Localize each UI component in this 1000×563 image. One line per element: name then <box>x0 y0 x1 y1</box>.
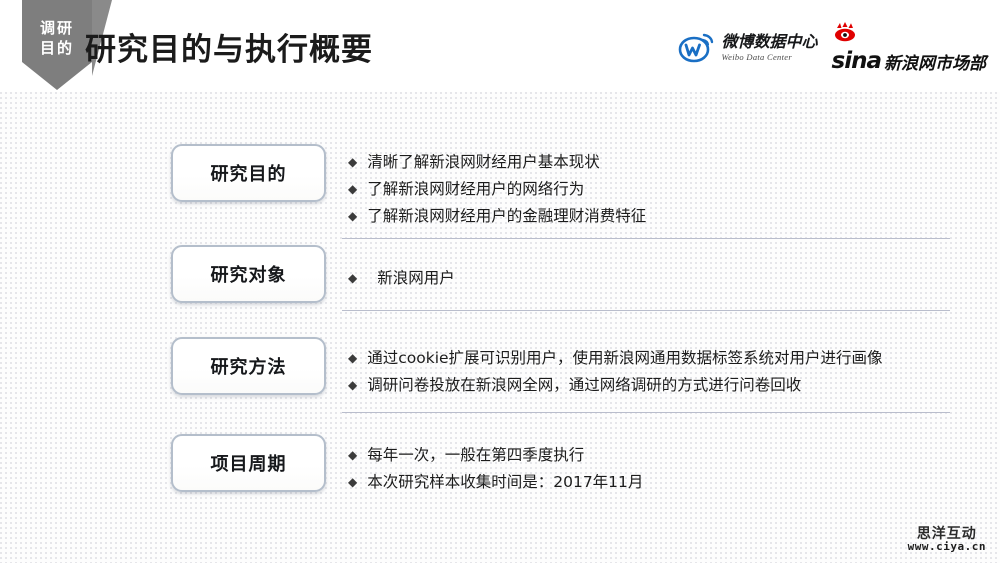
row-label: 研究目的 <box>211 160 287 186</box>
list-item: ◆ 清晰了解新浪网财经用户基本现状 <box>348 151 646 173</box>
diamond-bullet-icon: ◆ <box>348 205 357 227</box>
row-divider <box>342 412 950 413</box>
weibo-logo-cn: 微博数据中心 <box>722 34 818 50</box>
row-divider <box>342 238 950 239</box>
row-label-box: 研究对象 <box>171 245 326 303</box>
section-tab-line2: 目的 <box>40 38 74 58</box>
list-item-text: 每年一次，一般在第四季度执行 <box>367 444 584 466</box>
sina-logo-word: sina <box>832 48 881 74</box>
sina-eye-icon <box>832 22 858 42</box>
watermark-brand: 思洋互动 <box>908 527 986 542</box>
row-label: 研究方法 <box>211 353 287 379</box>
list-item-text: 调研问卷投放在新浪网全网，通过网络调研的方式进行问卷回收 <box>367 374 801 396</box>
list-item-text: 了解新浪网财经用户的网络行为 <box>367 178 584 200</box>
list-item-text: 清晰了解新浪网财经用户基本现状 <box>367 151 600 173</box>
diamond-bullet-icon: ◆ <box>348 471 357 493</box>
slide-header: 调研 目的 研究目的与执行概要 微博数据中心 Weibo Data Center <box>0 0 1000 92</box>
list-item: ◆ 本次研究样本收集时间是：2017年11月 <box>348 471 643 493</box>
watermark: 思洋互动 www.ciya.cn <box>908 527 986 553</box>
row-bullet-list: ◆ 通过cookie扩展可识别用户，使用新浪网通用数据标签系统对用户进行画像 ◆… <box>348 344 883 398</box>
slide-canvas: 调研 目的 研究目的与执行概要 微博数据中心 Weibo Data Center <box>0 0 1000 563</box>
watermark-url: www.ciya.cn <box>908 541 986 553</box>
weibo-cloud-icon <box>677 32 717 64</box>
page-title: 研究目的与执行概要 <box>85 24 373 69</box>
diamond-bullet-icon: ◆ <box>348 374 357 396</box>
section-tab: 调研 目的 <box>22 0 92 90</box>
row-label: 研究对象 <box>211 261 287 287</box>
diamond-bullet-icon: ◆ <box>348 178 357 200</box>
list-item: ◆ 新浪网用户 <box>348 267 455 289</box>
sina-market-logo: sina 新浪网市场部 <box>832 22 986 74</box>
list-item: ◆ 通过cookie扩展可识别用户，使用新浪网通用数据标签系统对用户进行画像 <box>348 347 883 369</box>
row-label-box: 研究方法 <box>171 337 326 395</box>
diamond-bullet-icon: ◆ <box>348 444 357 466</box>
row-divider <box>342 310 950 311</box>
sina-logo-cn: 新浪网市场部 <box>884 49 986 74</box>
list-item: ◆ 了解新浪网财经用户的网络行为 <box>348 178 646 200</box>
row-label-box: 研究目的 <box>171 144 326 202</box>
row-label: 项目周期 <box>211 450 287 476</box>
list-item: ◆ 了解新浪网财经用户的金融理财消费特征 <box>348 205 646 227</box>
list-item: ◆ 每年一次，一般在第四季度执行 <box>348 444 643 466</box>
section-tab-line1: 调研 <box>40 18 74 38</box>
diamond-bullet-icon: ◆ <box>348 347 357 369</box>
list-item-text: 通过cookie扩展可识别用户，使用新浪网通用数据标签系统对用户进行画像 <box>367 347 882 369</box>
row-bullet-list: ◆ 清晰了解新浪网财经用户基本现状 ◆ 了解新浪网财经用户的网络行为 ◆ 了解新… <box>348 148 646 229</box>
list-item-text: 了解新浪网财经用户的金融理财消费特征 <box>367 205 646 227</box>
diamond-bullet-icon: ◆ <box>348 267 357 289</box>
list-item-text: 新浪网用户 <box>377 267 455 289</box>
row-bullet-list: ◆ 每年一次，一般在第四季度执行 ◆ 本次研究样本收集时间是：2017年11月 <box>348 441 643 495</box>
row-label-box: 项目周期 <box>171 434 326 492</box>
row-bullet-list: ◆ 新浪网用户 <box>348 264 455 291</box>
list-item: ◆ 调研问卷投放在新浪网全网，通过网络调研的方式进行问卷回收 <box>348 374 883 396</box>
weibo-logo-en: Weibo Data Center <box>722 53 818 62</box>
list-item-text: 本次研究样本收集时间是：2017年11月 <box>367 471 643 493</box>
diamond-bullet-icon: ◆ <box>348 151 357 173</box>
weibo-data-center-logo: 微博数据中心 Weibo Data Center <box>677 32 818 64</box>
logo-group: 微博数据中心 Weibo Data Center sina <box>677 22 986 74</box>
